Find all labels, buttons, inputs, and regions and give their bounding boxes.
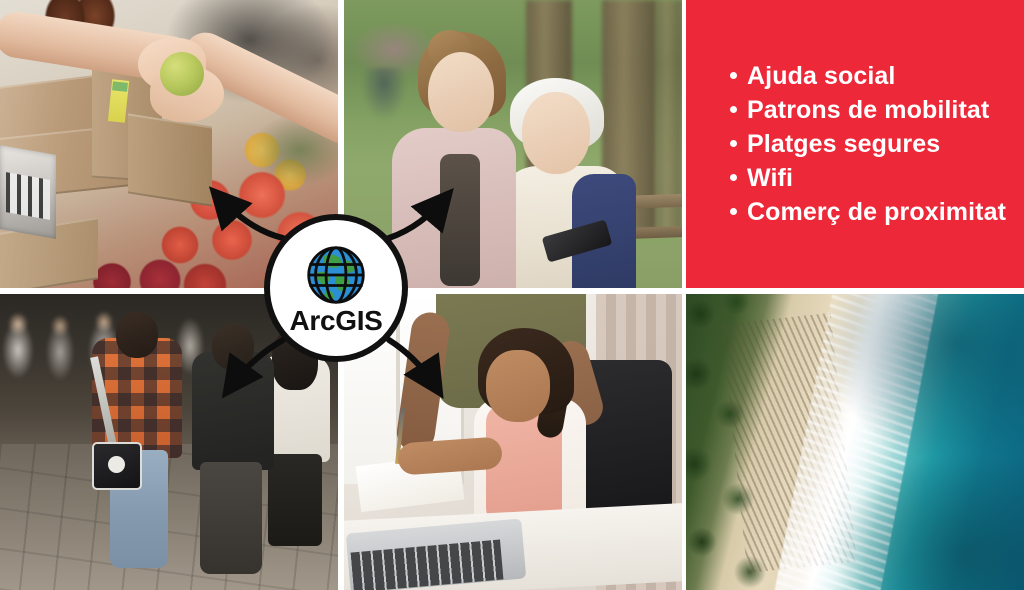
service-list: Ajuda social Patrons de mobilitat Platge… bbox=[730, 59, 1006, 229]
info-panel: Ajuda social Patrons de mobilitat Platge… bbox=[686, 0, 1024, 288]
list-item-label: Wifi bbox=[747, 164, 793, 192]
market-scale bbox=[0, 145, 56, 239]
bullet-icon bbox=[730, 72, 737, 79]
pedestrian-head bbox=[212, 324, 254, 370]
photo-tile-study-laptop bbox=[344, 294, 682, 590]
background-people bbox=[362, 68, 406, 120]
young-woman-top bbox=[440, 154, 480, 286]
photo-tile-beach-aerial bbox=[686, 294, 1024, 590]
pedestrian-head bbox=[116, 312, 158, 358]
bullet-icon bbox=[730, 140, 737, 147]
list-item-label: Comerç de proximitat bbox=[747, 198, 1006, 226]
shoulder-bag bbox=[92, 442, 142, 490]
deep-water bbox=[824, 294, 1024, 464]
apple bbox=[160, 52, 204, 96]
reef bbox=[834, 450, 1024, 590]
list-item: Patrons de mobilitat bbox=[730, 93, 1006, 127]
arcgis-label: ArcGIS bbox=[289, 307, 382, 335]
study-laptop-photo bbox=[344, 294, 682, 590]
arcgis-badge[interactable]: ArcGIS bbox=[264, 214, 408, 362]
globe-icon bbox=[305, 244, 367, 306]
wooden-crate bbox=[128, 113, 212, 206]
elderly-woman-face bbox=[522, 92, 590, 174]
list-item-label: Patrons de mobilitat bbox=[747, 96, 989, 124]
list-item: Comerç de proximitat bbox=[730, 195, 1006, 229]
young-woman-face bbox=[428, 52, 494, 132]
bullet-icon bbox=[730, 208, 737, 215]
beach-aerial-photo bbox=[686, 294, 1024, 590]
bullet-icon bbox=[730, 174, 737, 181]
infographic-canvas: Ajuda social Patrons de mobilitat Platge… bbox=[0, 0, 1024, 590]
list-item: Wifi bbox=[730, 161, 1006, 195]
girl-face bbox=[486, 350, 550, 422]
list-item-label: Platges segures bbox=[747, 130, 940, 158]
pedestrian-legs bbox=[268, 454, 322, 546]
pedestrian-legs bbox=[200, 462, 262, 574]
list-item: Platges segures bbox=[730, 127, 1006, 161]
bullet-icon bbox=[730, 106, 737, 113]
list-item: Ajuda social bbox=[730, 59, 1006, 93]
list-item-label: Ajuda social bbox=[747, 62, 895, 90]
